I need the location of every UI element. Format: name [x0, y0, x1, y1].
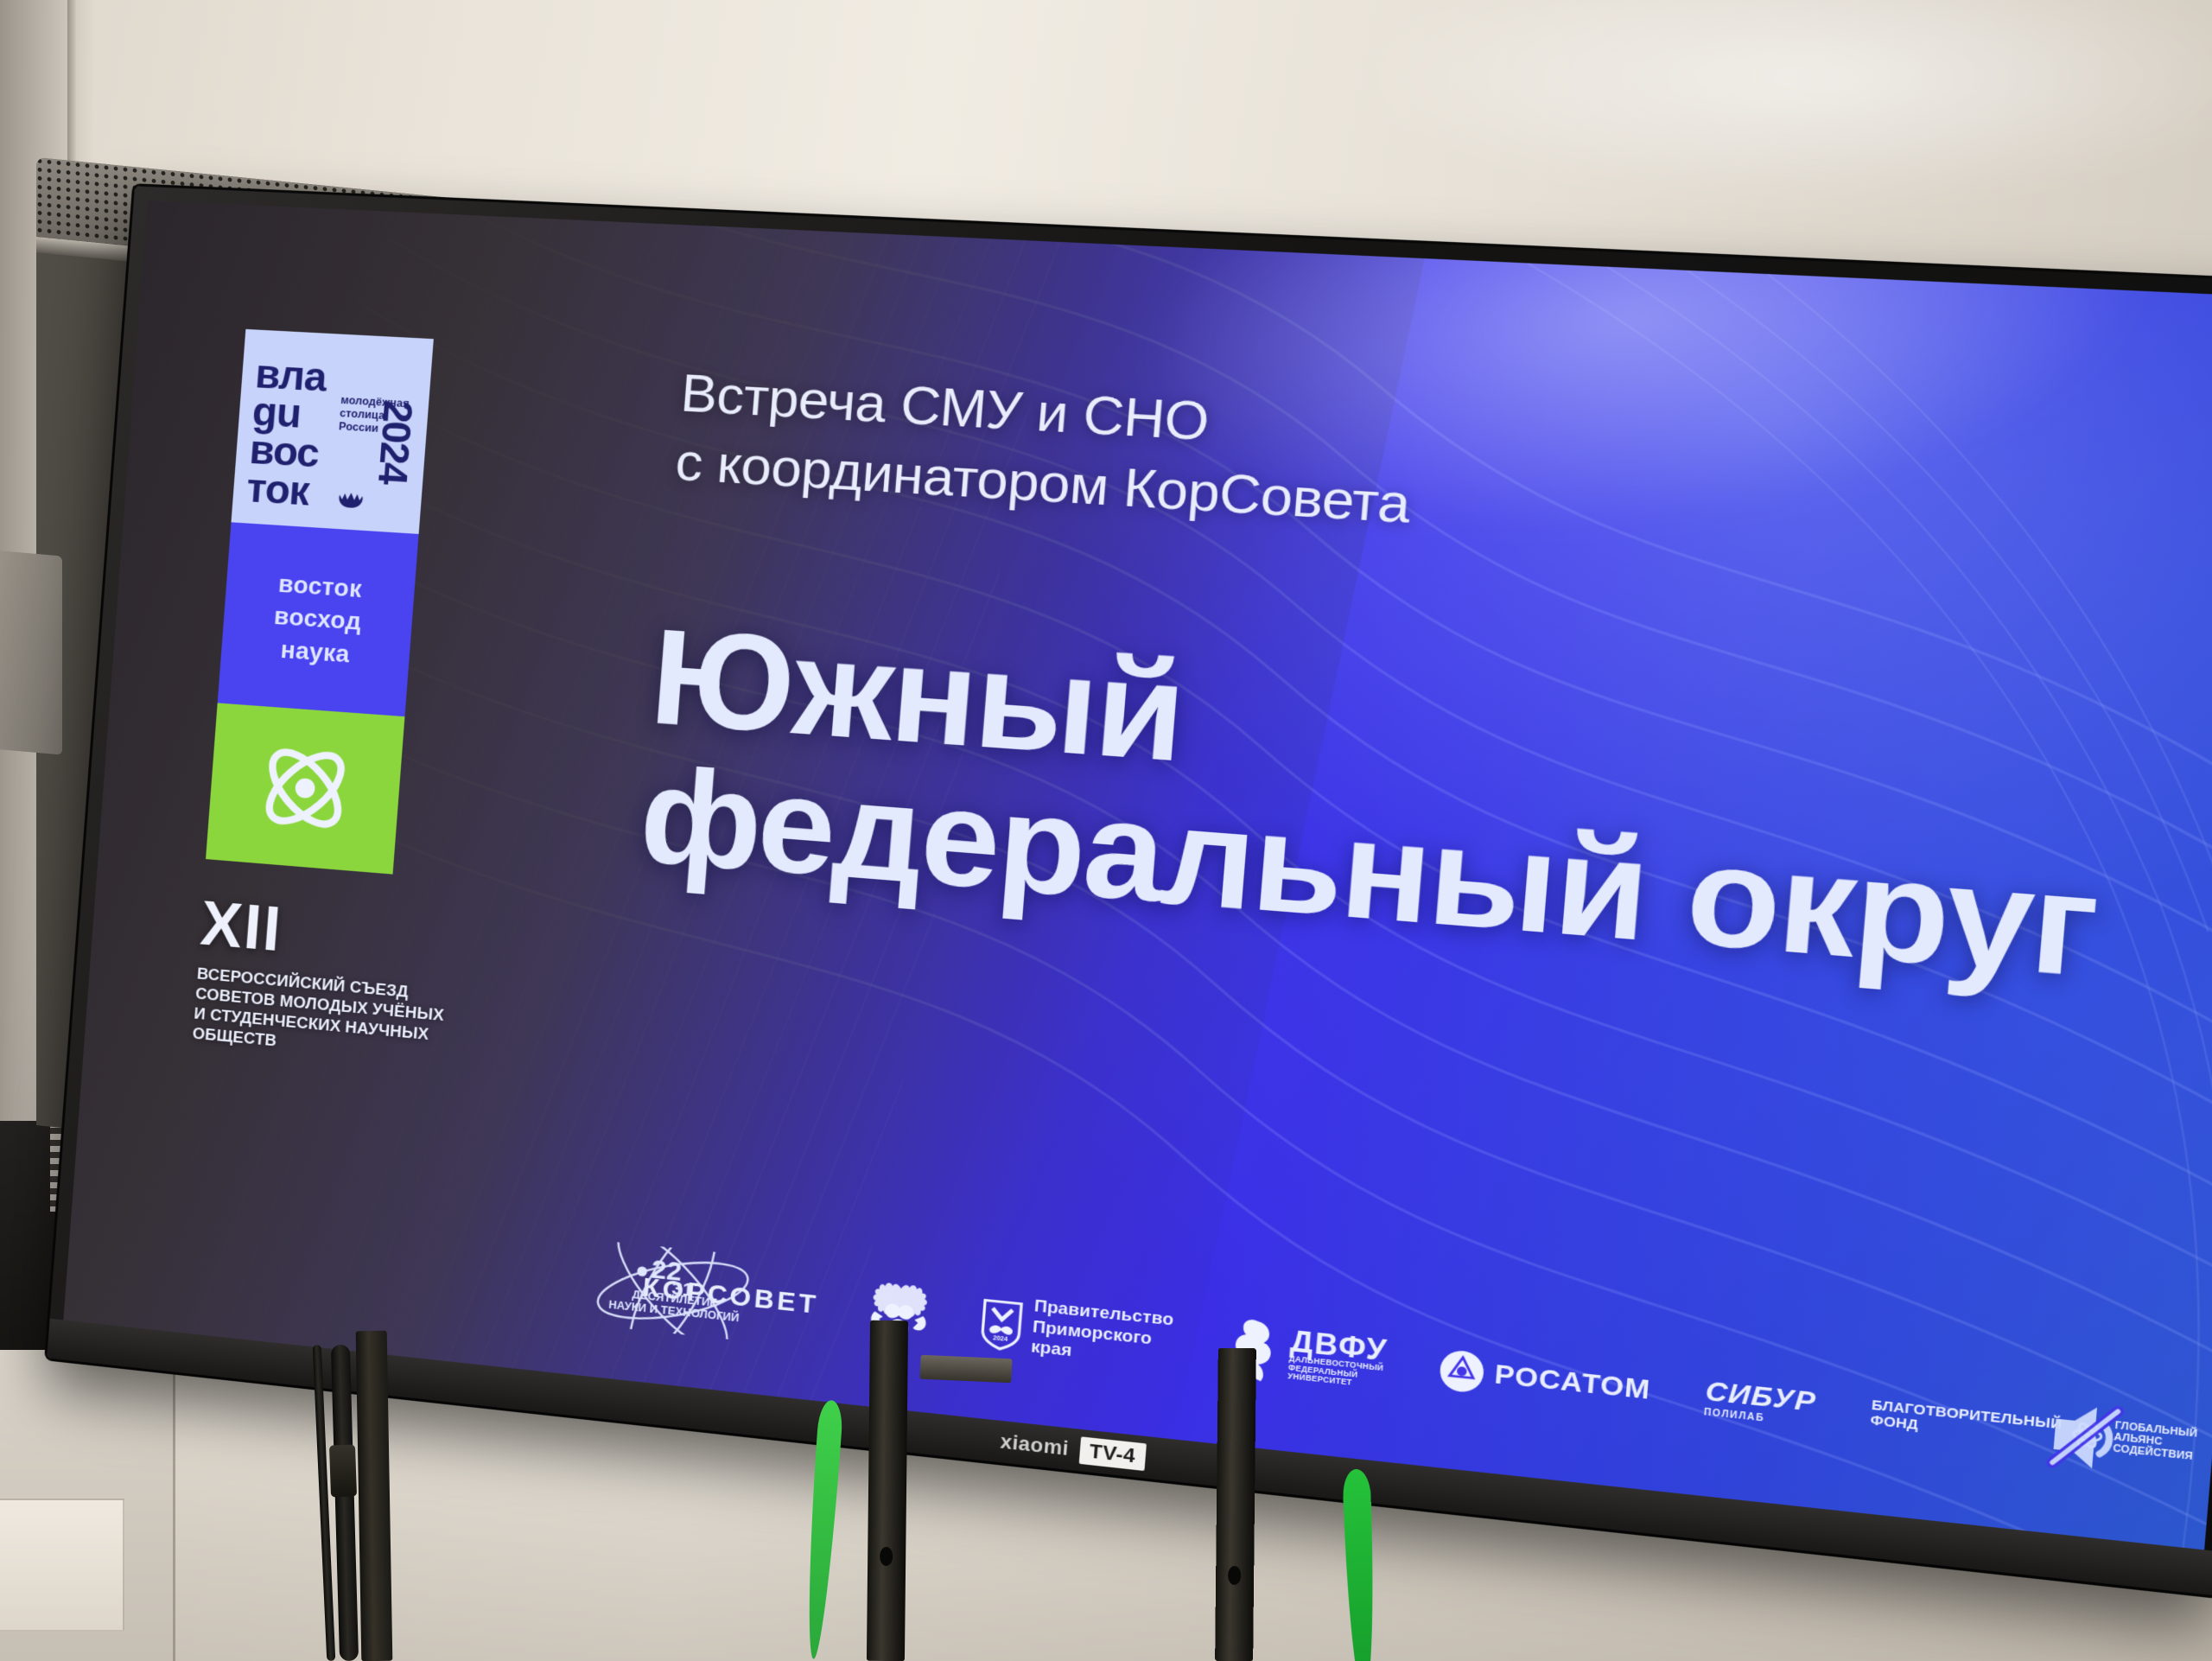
room-scene: вла gu вос ток молодёжная столица России…	[0, 0, 2212, 1661]
dvfu-label-block: ДВФУ ДАЛЬНЕВОСТОЧНЫЙ ФЕДЕРАЛЬНЫЙ УНИВЕРС…	[1287, 1327, 1389, 1391]
cable-clip	[329, 1444, 357, 1497]
vladivostok-line-4: ток	[245, 468, 319, 510]
tv-asset-label: TV-4	[1079, 1436, 1147, 1471]
congress-block: XII ВСЕРОССИЙСКИЙ СЪЕЗД СОВЕТОВ МОЛОДЫХ …	[192, 895, 465, 1067]
east-line-2: восход	[273, 601, 362, 636]
leg-hole	[1228, 1566, 1241, 1585]
speaker-wall-mount	[0, 550, 62, 755]
rosatom-trefoil-icon	[1438, 1348, 1486, 1396]
scallop-shell-icon	[337, 492, 365, 508]
primorsky-label: Правительство Приморского края	[1030, 1296, 1180, 1373]
tv-stand-leg-left	[356, 1331, 393, 1661]
sponsor-rosatom: РОСАТОМ	[1438, 1348, 1653, 1412]
vladivostok-logo-tile: вла gu вос ток молодёжная столица России…	[231, 329, 433, 534]
east-science-tile: восток восход наука	[218, 522, 419, 716]
charity-fund-label: БЛАГОТВОРИТЕЛЬНЫЙ ФОНД	[1870, 1397, 2063, 1448]
rosatom-label: РОСАТОМ	[1493, 1359, 1652, 1406]
vladivostok-year: 2024	[372, 399, 419, 484]
svg-text:2024: 2024	[993, 1336, 1008, 1344]
tv-stand-leg-center	[867, 1321, 908, 1661]
speaker-muted-icon	[2038, 1389, 2148, 1487]
sponsor-sibur: СИБУР ПОЛИЛАБ	[1703, 1375, 1817, 1429]
sibur-label-block: СИБУР ПОЛИЛАБ	[1703, 1375, 1817, 1429]
primorsky-coat-of-arms-icon: 2024	[978, 1294, 1026, 1354]
east-line-1: восток	[277, 570, 363, 604]
ceiling-light-reflection	[1331, 0, 2212, 207]
vladivostok-wordmark: вла gu вос ток	[245, 353, 327, 510]
tv-brand-label: xiaomi	[1000, 1429, 1070, 1461]
east-line-3: наука	[280, 634, 351, 668]
atom-icon	[250, 733, 360, 843]
cabinet-drawer	[0, 1499, 124, 1632]
tv-stand-bracket	[919, 1355, 1012, 1384]
atom-logo-tile	[206, 703, 404, 874]
tv-stand-leg-right	[1215, 1348, 1256, 1661]
leg-hole	[880, 1547, 893, 1566]
